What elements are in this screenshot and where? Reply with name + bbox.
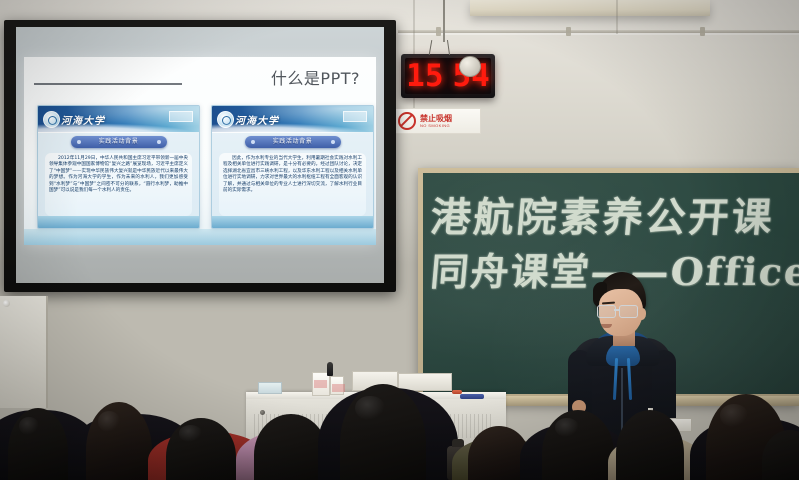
- presenter-glasses-icon: [597, 305, 641, 316]
- header-photo-thumb: [169, 111, 193, 122]
- slide-title-rule: [34, 83, 182, 85]
- audience-head: [616, 410, 684, 480]
- university-name: 河海大学: [235, 112, 279, 127]
- card-section-label: 实践活动背景: [245, 136, 341, 148]
- wall-speaker: [459, 56, 481, 77]
- card-paragraph: 2012年11月29日，中华人民共和国主席习近平带领新一届中央领导集体参观中国国…: [49, 156, 188, 194]
- ppt-slide: 什么是PPT? 河海大学 实践活动背景 2012年11月29日，中华人民共和国主…: [24, 57, 376, 245]
- card-section-pill: 实践活动背景: [71, 136, 167, 148]
- conduit-joint: [700, 27, 705, 36]
- ceiling-light-fixture: [470, 0, 710, 16]
- card-section-pill: 实践活动背景: [245, 136, 341, 148]
- clock-hours: 15: [406, 58, 443, 94]
- conduit-joint: [436, 27, 441, 36]
- header-photo-thumb: [343, 111, 367, 122]
- chalkboard-line-1: 港航院素养公开课: [428, 185, 793, 243]
- university-seal-icon: [217, 111, 234, 128]
- audience-head: [166, 418, 236, 480]
- audience-head: [542, 410, 614, 480]
- audience-head: [254, 414, 328, 480]
- no-smoking-icon: [398, 112, 416, 130]
- university-seal-icon: [43, 111, 60, 128]
- slide-title: 什么是PPT?: [271, 65, 360, 89]
- card-body-right: 因此，作为水利专业的当代大学生，利用暑期社会实践对水利工程及相关单位进行实践调研…: [219, 153, 366, 216]
- wall-seam: [616, 0, 618, 34]
- projection-screen-frame: 什么是PPT? 河海大学 实践活动背景 2012年11月29日，中华人民共和国主…: [4, 20, 396, 292]
- university-name: 河海大学: [61, 112, 105, 127]
- wall-conduit-highlight: [398, 33, 799, 35]
- slide-bottom-band: [24, 229, 376, 245]
- conduit-joint: [566, 27, 571, 36]
- slide-card-right: 河海大学 实践活动背景 因此，作为水利专业的当代大学生，利用暑期社会实践对水利工…: [211, 105, 374, 229]
- card-paragraph: 因此，作为水利专业的当代大学生，利用暑期社会实践对水利工程及相关单位进行实践调研…: [223, 156, 362, 194]
- card-header-banner: 河海大学: [38, 106, 199, 132]
- card-body-left: 2012年11月29日，中华人民共和国主席习近平带领新一届中央领导集体参观中国国…: [45, 153, 192, 216]
- clock-support-rod: [443, 0, 445, 42]
- no-smoking-english: NO SMOKING: [420, 124, 452, 128]
- panel-knob-icon: [3, 300, 10, 307]
- classroom-photo: 15 54 禁止吸烟 NO SMOKING 什么是PPT?: [0, 0, 799, 480]
- no-smoking-sign: 禁止吸烟 NO SMOKING: [393, 108, 481, 134]
- projection-screen-surface: 什么是PPT? 河海大学 实践活动背景 2012年11月29日，中华人民共和国主…: [16, 27, 384, 283]
- seated-audience: [0, 330, 799, 480]
- card-footer-band: [212, 216, 373, 228]
- slide-card-left: 河海大学 实践活动背景 2012年11月29日，中华人民共和国主席习近平带领新一…: [37, 105, 200, 229]
- digital-led-clock: 15 54: [401, 54, 495, 98]
- card-header-banner: 河海大学: [212, 106, 373, 132]
- no-smoking-chinese: 禁止吸烟: [420, 115, 452, 123]
- card-section-label: 实践活动背景: [71, 136, 167, 148]
- card-footer-band: [38, 216, 199, 228]
